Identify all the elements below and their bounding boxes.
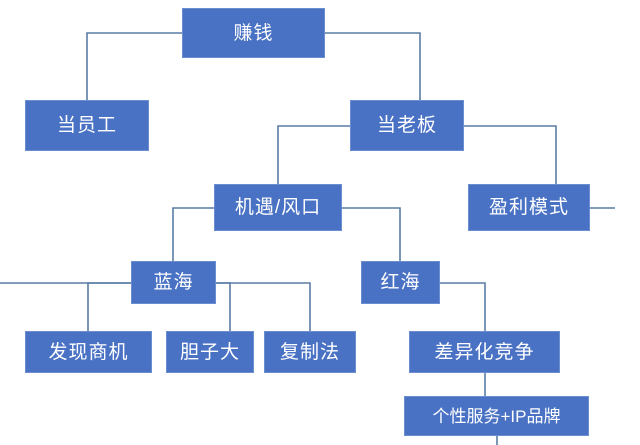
connector-line	[173, 208, 214, 261]
node-faxianshangji[interactable]: 发现商机	[25, 331, 152, 373]
node-label: 发现商机	[48, 343, 128, 362]
node-label: 红海	[380, 273, 420, 292]
node-gexingfuwu[interactable]: 个性服务+IP品牌	[404, 396, 589, 436]
connector-line	[464, 126, 556, 184]
node-zhuanqian[interactable]: 赚钱	[182, 8, 325, 58]
node-label: 蓝海	[153, 273, 193, 292]
node-label: 盈利模式	[489, 198, 569, 217]
connector-line	[87, 33, 182, 100]
node-lanhai[interactable]: 蓝海	[131, 261, 216, 304]
connector-line	[88, 283, 131, 331]
connector-line	[216, 283, 230, 331]
node-label: 差异化竞争	[434, 343, 534, 362]
node-fuzhifa[interactable]: 复制法	[264, 331, 356, 373]
node-danzida[interactable]: 胆子大	[166, 331, 254, 373]
node-label: 胆子大	[180, 343, 240, 362]
node-jiyu[interactable]: 机遇/风口	[214, 184, 342, 231]
connector-line	[325, 33, 420, 100]
connector-line	[216, 283, 310, 331]
node-label: 当员工	[57, 116, 117, 135]
node-label: 赚钱	[233, 24, 273, 43]
connector-line	[440, 283, 485, 331]
node-label: 复制法	[280, 343, 340, 362]
connector-line	[342, 208, 400, 261]
connector-line	[278, 126, 350, 184]
node-label: 当老板	[377, 116, 437, 135]
node-chayihua[interactable]: 差异化竞争	[409, 331, 560, 373]
node-yinglimoshi[interactable]: 盈利模式	[468, 184, 590, 231]
node-dangyuangong[interactable]: 当员工	[25, 100, 149, 151]
node-label: 个性服务+IP品牌	[433, 408, 561, 425]
node-honghai[interactable]: 红海	[361, 261, 440, 304]
node-danglaoban[interactable]: 当老板	[350, 100, 464, 151]
mindmap-diagram: 赚钱当员工当老板机遇/风口盈利模式蓝海红海发现商机胆子大复制法差异化竞争个性服务…	[0, 0, 640, 445]
node-label: 机遇/风口	[235, 198, 321, 217]
